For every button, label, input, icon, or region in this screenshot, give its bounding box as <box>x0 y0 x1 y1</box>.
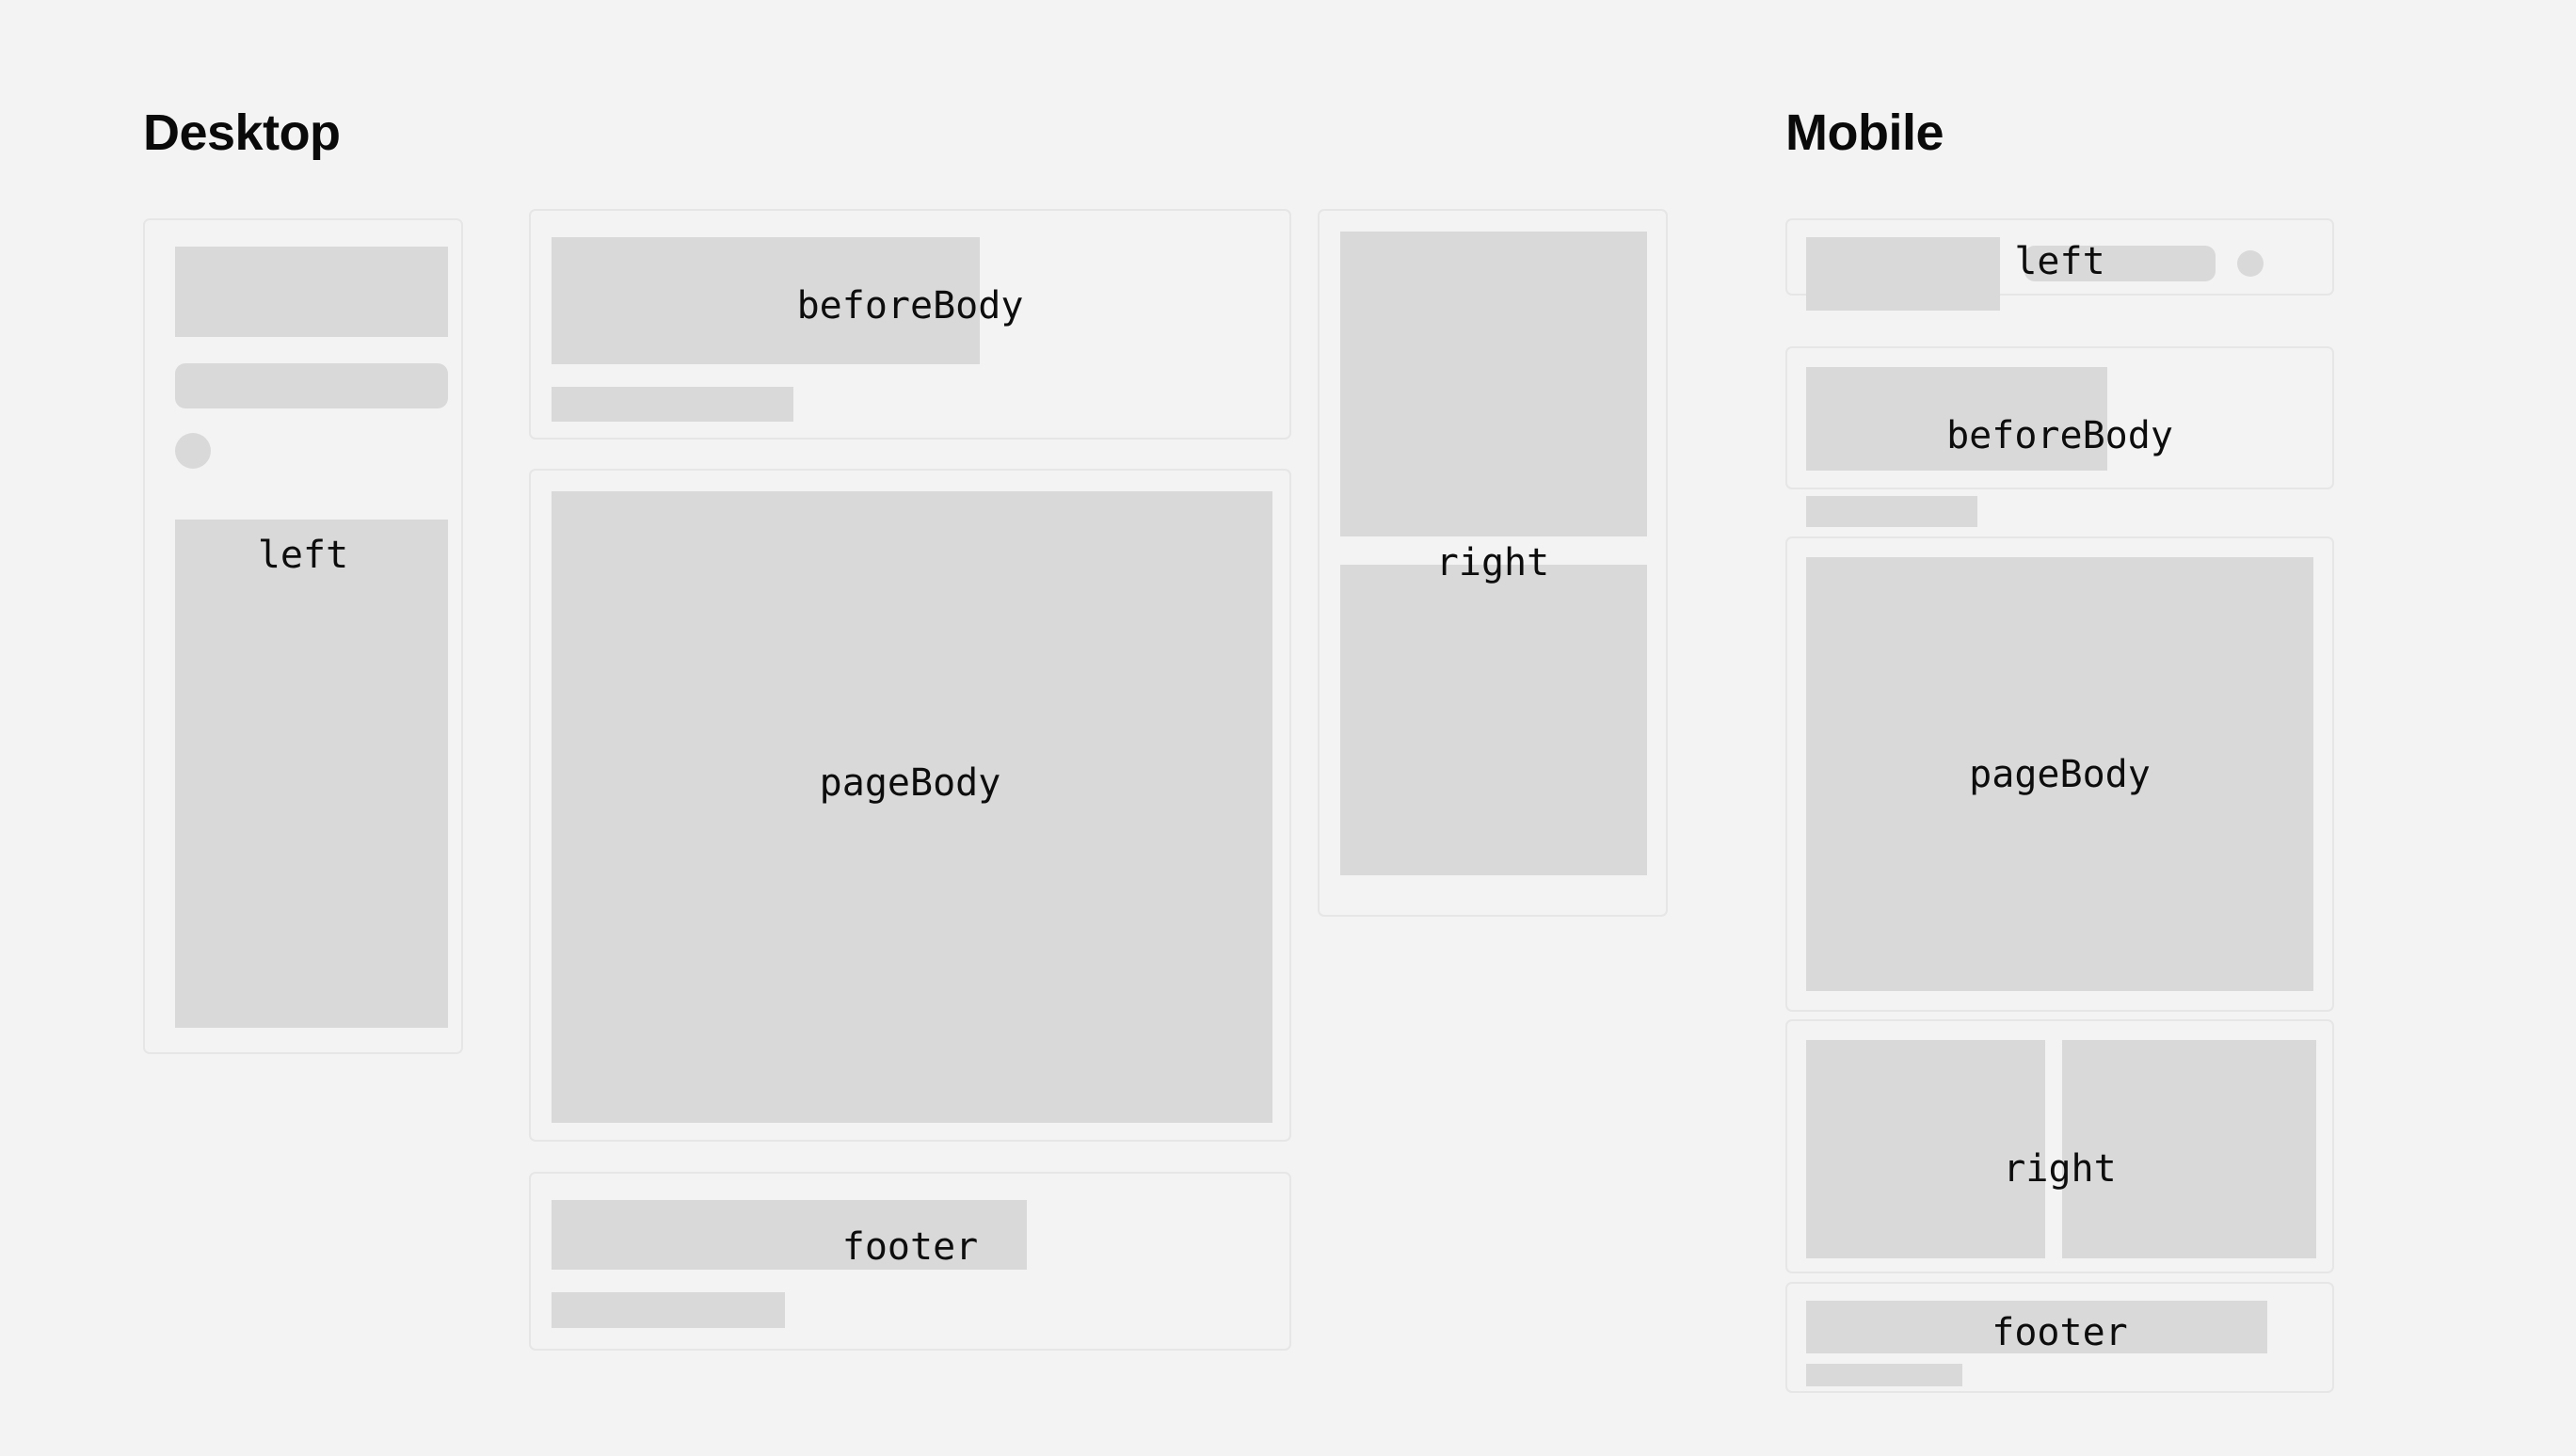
mobile-before-body-slot-card <box>1785 346 2334 489</box>
skeleton-block-large <box>175 247 448 337</box>
desktop-footer-slot-card <box>529 1172 1291 1351</box>
desktop-left-slot-card <box>143 218 463 1054</box>
mobile-right-slot-card <box>1785 1019 2334 1273</box>
skeleton-block-tall <box>175 520 448 1028</box>
skeleton-block-wide <box>1806 1301 2267 1353</box>
skeleton-block-left <box>1806 1040 2045 1258</box>
desktop-section-title: Desktop <box>143 107 341 158</box>
skeleton-circle-avatar <box>2237 250 2264 277</box>
skeleton-block-square <box>1806 237 2000 311</box>
mobile-footer-slot-card <box>1785 1282 2334 1393</box>
skeleton-block-wide <box>1806 367 2107 471</box>
skeleton-block-wide <box>552 237 980 364</box>
skeleton-block-full <box>552 491 1272 1123</box>
skeleton-block-pill <box>2024 246 2216 281</box>
skeleton-block-right <box>2062 1040 2316 1258</box>
mobile-page-body-slot-card <box>1785 536 2334 1012</box>
skeleton-block-pill <box>175 363 448 408</box>
desktop-right-slot-card <box>1318 209 1668 917</box>
skeleton-block-small <box>552 1292 785 1328</box>
skeleton-block-bottom <box>1340 565 1647 875</box>
desktop-page-body-slot-card <box>529 469 1291 1142</box>
desktop-before-body-slot-card <box>529 209 1291 440</box>
skeleton-block-small <box>552 387 793 422</box>
skeleton-block-wide <box>552 1200 1027 1270</box>
skeleton-block-small <box>1806 1364 1962 1386</box>
skeleton-block-full <box>1806 557 2313 991</box>
mobile-section-title: Mobile <box>1785 107 1944 158</box>
skeleton-block-small <box>1806 496 1977 527</box>
mobile-left-slot-card <box>1785 218 2334 296</box>
skeleton-block-top <box>1340 232 1647 536</box>
skeleton-circle-avatar <box>175 433 211 469</box>
